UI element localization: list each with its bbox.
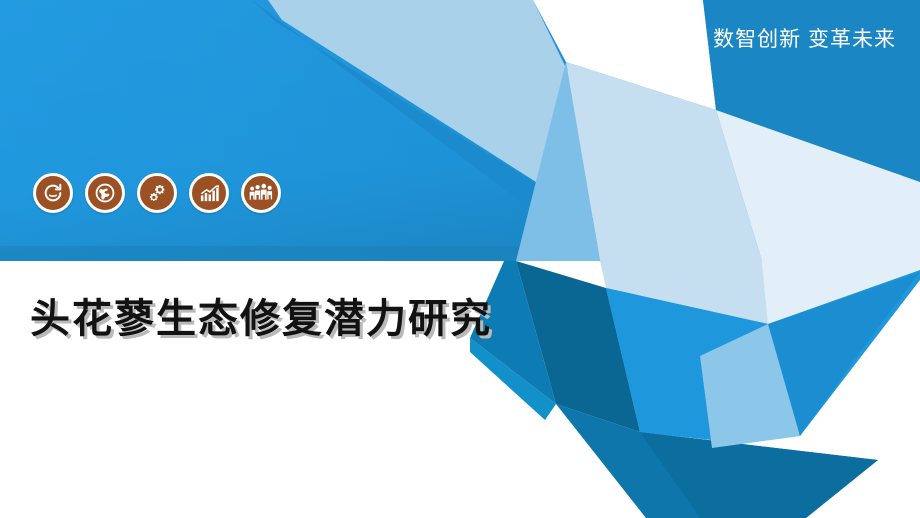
icon-badge-refresh-cycle[interactable]: [33, 173, 73, 213]
people-group-icon: [249, 182, 273, 204]
icon-row: [33, 173, 281, 213]
icon-badge-bar-chart-growth[interactable]: [189, 173, 229, 213]
gears-icon: [146, 182, 169, 205]
icon-badge-people-group[interactable]: [241, 173, 281, 213]
icon-badge-globe[interactable]: [85, 173, 125, 213]
page-title: 头花蓼生态修复潜力研究: [30, 296, 492, 342]
tagline-text: 数智创新 变革未来: [713, 28, 896, 51]
globe-icon: [94, 182, 116, 204]
refresh-cycle-icon: [42, 182, 64, 204]
slide-canvas: 数智创新 变革未来: [0, 0, 920, 518]
icon-badge-gears[interactable]: [137, 173, 177, 213]
background-artwork: [0, 0, 920, 518]
bar-chart-growth-icon: [198, 182, 221, 205]
lower-facets: [470, 261, 920, 518]
